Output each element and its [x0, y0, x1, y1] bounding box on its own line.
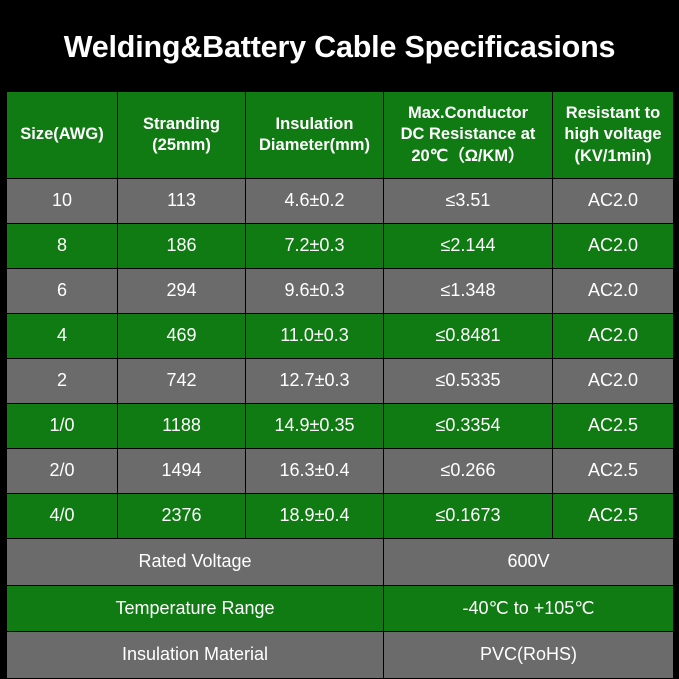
cell-dc-resistance: ≤0.8481: [384, 314, 553, 359]
footer-row: Insulation MaterialPVC(RoHS): [7, 632, 674, 679]
table-row: 446911.0±0.3≤0.8481AC2.0: [7, 314, 674, 359]
cell-high-voltage: AC2.5: [553, 404, 674, 449]
column-header-stranding: Stranding (25mm): [118, 92, 246, 179]
cell-high-voltage: AC2.0: [553, 359, 674, 404]
cell-insulation-diameter: 18.9±0.4: [246, 494, 384, 539]
cell-dc-resistance: ≤0.1673: [384, 494, 553, 539]
table-row: 1/0118814.9±0.35≤0.3354AC2.5: [7, 404, 674, 449]
cell-insulation-diameter: 11.0±0.3: [246, 314, 384, 359]
header-line-2: high voltage: [555, 124, 671, 145]
footer-value: PVC(RoHS): [384, 632, 674, 679]
footer-value: -40℃ to +105℃: [384, 585, 674, 632]
cell-high-voltage: AC2.0: [553, 314, 674, 359]
header-row: Size(AWG) Stranding (25mm) Insulation Di…: [7, 92, 674, 179]
cell-dc-resistance: ≤0.3354: [384, 404, 553, 449]
cell-high-voltage: AC2.0: [553, 269, 674, 314]
cell-size: 2/0: [7, 449, 118, 494]
cell-insulation-diameter: 12.7±0.3: [246, 359, 384, 404]
table-row: 101134.6±0.2≤3.51AC2.0: [7, 179, 674, 224]
cell-high-voltage: AC2.5: [553, 449, 674, 494]
cell-stranding: 469: [118, 314, 246, 359]
cell-size: 8: [7, 224, 118, 269]
column-header-insulation-diameter: Insulation Diameter(mm): [246, 92, 384, 179]
cell-dc-resistance: ≤0.266: [384, 449, 553, 494]
footer-label: Insulation Material: [7, 632, 384, 679]
table-row: 274212.7±0.3≤0.5335AC2.0: [7, 359, 674, 404]
table-body: 101134.6±0.2≤3.51AC2.081867.2±0.3≤2.144A…: [7, 179, 674, 539]
cell-size: 1/0: [7, 404, 118, 449]
cell-insulation-diameter: 14.9±0.35: [246, 404, 384, 449]
cell-insulation-diameter: 16.3±0.4: [246, 449, 384, 494]
specifications-table: Size(AWG) Stranding (25mm) Insulation Di…: [6, 91, 674, 679]
table-header: Size(AWG) Stranding (25mm) Insulation Di…: [7, 92, 674, 179]
header-line-2: Diameter(mm): [248, 135, 381, 156]
header-line-1: Max.Conductor: [386, 103, 550, 124]
cell-size: 6: [7, 269, 118, 314]
title-bar: Welding&Battery Cable Specificasions: [0, 0, 679, 91]
cell-size: 4/0: [7, 494, 118, 539]
header-line-1: Stranding: [120, 114, 243, 135]
spec-sheet-page: Welding&Battery Cable Specificasions Siz…: [0, 0, 679, 679]
header-line-3: 20℃（Ω/KM）: [386, 146, 550, 167]
table-footer: Rated Voltage600VTemperature Range-40℃ t…: [7, 539, 674, 679]
header-line-1: Size(AWG): [9, 124, 115, 145]
header-line-1: Resistant to: [555, 103, 671, 124]
table-row: 2/0149416.3±0.4≤0.266AC2.5: [7, 449, 674, 494]
table-row: 81867.2±0.3≤2.144AC2.0: [7, 224, 674, 269]
cell-stranding: 742: [118, 359, 246, 404]
footer-row: Rated Voltage600V: [7, 539, 674, 586]
cell-stranding: 294: [118, 269, 246, 314]
column-header-dc-resistance: Max.Conductor DC Resistance at 20℃（Ω/KM）: [384, 92, 553, 179]
cell-stranding: 186: [118, 224, 246, 269]
cell-dc-resistance: ≤1.348: [384, 269, 553, 314]
column-header-size: Size(AWG): [7, 92, 118, 179]
cell-high-voltage: AC2.0: [553, 224, 674, 269]
cell-stranding: 1188: [118, 404, 246, 449]
page-title: Welding&Battery Cable Specificasions: [64, 28, 616, 63]
cell-dc-resistance: ≤0.5335: [384, 359, 553, 404]
cell-dc-resistance: ≤3.51: [384, 179, 553, 224]
cell-stranding: 2376: [118, 494, 246, 539]
header-line-1: Insulation: [248, 114, 381, 135]
cell-stranding: 1494: [118, 449, 246, 494]
cell-high-voltage: AC2.0: [553, 179, 674, 224]
header-line-3: (KV/1min): [555, 146, 671, 167]
cell-size: 2: [7, 359, 118, 404]
header-line-2: (25mm): [120, 135, 243, 156]
footer-label: Temperature Range: [7, 585, 384, 632]
footer-row: Temperature Range-40℃ to +105℃: [7, 585, 674, 632]
cell-insulation-diameter: 9.6±0.3: [246, 269, 384, 314]
header-line-2: DC Resistance at: [386, 124, 550, 145]
cell-dc-resistance: ≤2.144: [384, 224, 553, 269]
cell-insulation-diameter: 7.2±0.3: [246, 224, 384, 269]
footer-value: 600V: [384, 539, 674, 586]
footer-label: Rated Voltage: [7, 539, 384, 586]
cell-insulation-diameter: 4.6±0.2: [246, 179, 384, 224]
table-row: 4/0237618.9±0.4≤0.1673AC2.5: [7, 494, 674, 539]
cell-stranding: 113: [118, 179, 246, 224]
cell-high-voltage: AC2.5: [553, 494, 674, 539]
cell-size: 4: [7, 314, 118, 359]
column-header-high-voltage-resistance: Resistant to high voltage (KV/1min): [553, 92, 674, 179]
table-row: 62949.6±0.3≤1.348AC2.0: [7, 269, 674, 314]
cell-size: 10: [7, 179, 118, 224]
